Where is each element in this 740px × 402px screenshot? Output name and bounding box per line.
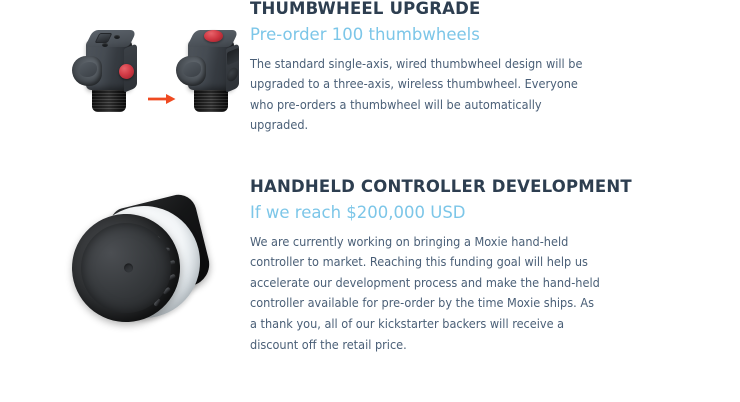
red-button-front-before [119, 64, 134, 79]
subtitle-controller: If we reach $200,000 USD [250, 204, 716, 223]
thumbwheel-dial-after [176, 56, 206, 86]
controller-dial-face [71, 213, 180, 322]
body-text-controller: We are currently working on bringing a M… [250, 232, 602, 355]
subtitle-thumbwheel: Pre-order 100 thumbwheels [250, 26, 716, 45]
controller-text-block: HANDHELD CONTROLLER DEVELOPMENT If we re… [250, 178, 740, 355]
page-title-thumbwheel: THUMBWHEEL UPGRADE [250, 0, 716, 19]
thumbwheel-dial-before [72, 56, 102, 86]
handheld-controller-illustration: Round puck-shaped handheld Moxie control… [0, 178, 250, 350]
thumbwheel-text-block: THUMBWHEEL UPGRADE Pre-order 100 thumbwh… [250, 0, 740, 136]
body-text-thumbwheel: The standard single-axis, wired thumbwhe… [250, 54, 602, 136]
controller-scene [0, 178, 250, 348]
thumbwheel-device-before [72, 26, 142, 118]
thumbwheel-upgrade-illustration: Current single-axis wired thumbwheel dev… [0, 0, 250, 160]
stretch-goals-page: { "page": { "background_color": "#ffffff… [0, 0, 740, 402]
thumbwheel-comparison-scene [0, 0, 250, 145]
controller-dial-center-dimple [123, 262, 134, 273]
page-title-controller: HANDHELD CONTROLLER DEVELOPMENT [250, 178, 716, 197]
red-button-top-after [204, 30, 223, 42]
top-dot-button-a-before [114, 35, 120, 39]
arrow-right-icon [148, 92, 176, 104]
top-dot-button-b-before [102, 43, 108, 47]
stretch-goal-handheld-controller: Round puck-shaped handheld Moxie control… [0, 178, 740, 355]
thumbwheel-device-after [176, 24, 246, 118]
stretch-goal-thumbwheel-upgrade: Current single-axis wired thumbwheel dev… [0, 0, 740, 160]
